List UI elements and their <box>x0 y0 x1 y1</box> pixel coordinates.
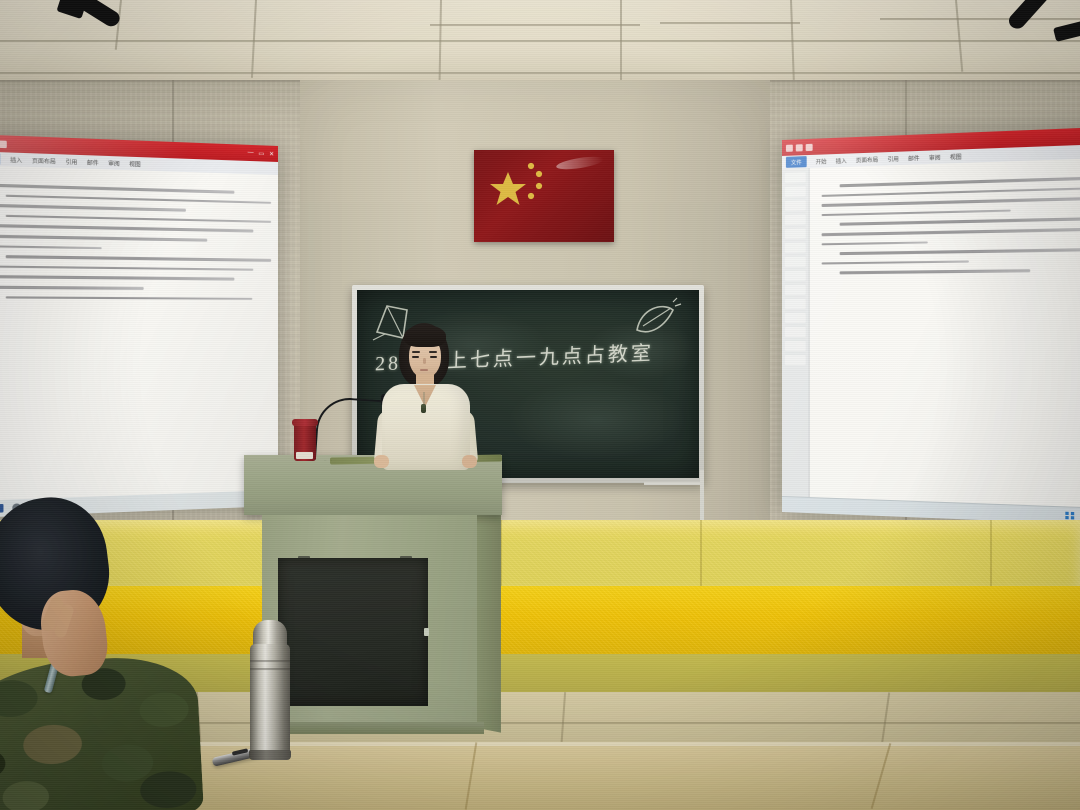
document-text-line <box>0 204 185 212</box>
chalk-doodle-right-icon <box>629 296 685 340</box>
windows-logo-icon[interactable] <box>1065 511 1074 520</box>
document-text-line <box>6 296 252 300</box>
navigation-pane-right[interactable] <box>782 168 810 497</box>
tab-reference-right[interactable]: 引用 <box>887 154 898 163</box>
podium-latch[interactable] <box>424 628 429 636</box>
student-camouflage-uniform <box>0 654 204 810</box>
speaker-hand-left <box>374 455 389 468</box>
podium-base <box>262 722 484 734</box>
maximize-button[interactable]: ▭ <box>259 150 265 157</box>
tab-view-right[interactable]: 视图 <box>950 152 962 161</box>
word-icon[interactable] <box>0 504 3 513</box>
minimize-button[interactable]: — <box>248 149 254 156</box>
quick-access-toolbar-right[interactable] <box>786 143 813 151</box>
document-text-line <box>0 275 234 280</box>
wall-acoustic-panel-lower <box>0 586 1080 654</box>
classroom-scene: — ▭ ✕ 开始 插入 页面布局 引用 邮件 审阅 视图 <box>0 0 1080 810</box>
thermos-base <box>249 750 291 760</box>
tab-insert-right[interactable]: 插入 <box>836 156 847 164</box>
save-icon[interactable] <box>786 144 793 151</box>
word-document-page-left[interactable] <box>0 165 278 501</box>
document-text-line <box>840 217 1080 225</box>
document-text-line <box>0 184 234 194</box>
ceiling <box>0 0 1080 86</box>
tab-reference-left[interactable]: 引用 <box>66 157 78 166</box>
wall-acoustic-panel-upper <box>0 520 1080 586</box>
document-text-left <box>0 165 278 501</box>
speaker-pendant <box>421 404 426 413</box>
podium-front-panel <box>278 558 428 706</box>
document-text-line <box>6 255 271 261</box>
document-text-line <box>0 245 102 250</box>
blackboard-stand-brace <box>644 482 704 485</box>
projection-screen-right[interactable]: 文件 开始 插入 页面布局 引用 邮件 审阅 视图 <box>782 127 1080 525</box>
document-text-line <box>822 209 1011 216</box>
speaker-nose <box>423 358 426 364</box>
document-text-line <box>822 197 1080 206</box>
red-travel-mug-lid <box>292 419 318 426</box>
close-button[interactable]: ✕ <box>269 150 274 157</box>
document-text-line <box>840 248 1080 254</box>
tab-layout-left[interactable]: 页面布局 <box>32 156 56 165</box>
document-text-line <box>6 194 271 204</box>
quick-access-toolbar-left[interactable] <box>0 139 7 148</box>
tab-review-right[interactable]: 审阅 <box>929 153 941 162</box>
document-text-line <box>822 228 1080 236</box>
document-text-line <box>0 224 253 232</box>
window-controls-left[interactable]: — ▭ ✕ <box>248 149 274 157</box>
speaker-hair-front <box>404 325 446 347</box>
speaker-mouth <box>420 369 428 371</box>
document-text-line <box>840 269 1031 274</box>
document-text-line <box>0 235 207 242</box>
document-text-line <box>822 187 1080 197</box>
document-text-right <box>810 158 1080 508</box>
tab-mail-right[interactable]: 邮件 <box>908 154 919 163</box>
undo-icon[interactable] <box>796 144 803 151</box>
document-text-line <box>840 176 1080 187</box>
tab-insert-left[interactable]: 插入 <box>10 155 22 164</box>
document-text-line <box>822 260 969 265</box>
tab-mail-left[interactable]: 邮件 <box>87 158 99 167</box>
tab-start-right[interactable]: 开始 <box>816 157 827 165</box>
word-document-page-right[interactable] <box>782 158 1080 508</box>
ceiling-fan-hub-right <box>1053 16 1080 42</box>
chinese-national-flag <box>474 150 614 242</box>
tab-layout-right[interactable]: 页面布局 <box>856 155 878 164</box>
document-text-line <box>0 286 144 290</box>
redo-icon[interactable] <box>0 140 7 148</box>
document-text-line <box>822 241 928 246</box>
red-travel-mug-label <box>296 452 313 459</box>
tab-file-right[interactable]: 文件 <box>786 156 807 168</box>
document-paragraph-gap <box>0 306 266 319</box>
tab-view-left[interactable]: 视图 <box>129 159 140 168</box>
speaker-hand-right <box>462 455 477 468</box>
document-text-line <box>6 215 271 224</box>
projection-screen-left[interactable]: — ▭ ✕ 开始 插入 页面布局 引用 邮件 审阅 视图 <box>0 134 278 518</box>
redo-icon[interactable] <box>806 143 813 150</box>
document-text-line <box>0 265 253 271</box>
tab-review-left[interactable]: 审阅 <box>108 159 120 168</box>
